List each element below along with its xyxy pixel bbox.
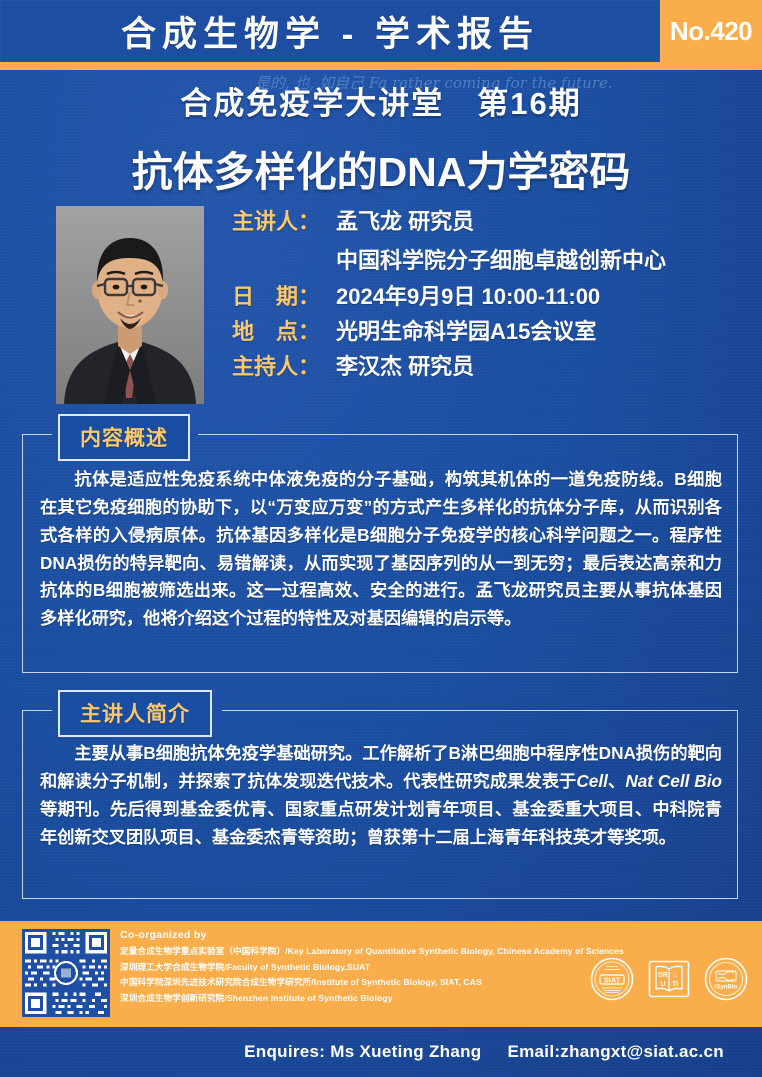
- svg-text:⌂: ⌂: [673, 972, 677, 979]
- svg-text:U: U: [660, 981, 665, 988]
- bio-text: 主要从事B细胞抗体免疫学基础研究。工作解析了B淋巴细胞中程序性DNA损伤的靶向和…: [40, 740, 722, 851]
- event-info-block: 主讲人： 孟飞龙 研究员 中国科学院分子细胞卓越创新中心 日 期： 2024年9…: [232, 208, 752, 389]
- speaker-portrait-illustration: [56, 206, 204, 404]
- speaker-name: 孟飞龙 研究员: [336, 208, 474, 236]
- footer-bar: Co-organized by 定量合成生物学重点实验室（中国科学院）/Key …: [0, 921, 762, 1027]
- poster-root: 合成生物学 - 学术报告 No.420 是的, 也, 如自己 Fa rather…: [0, 0, 762, 1077]
- speaker-photo: [56, 206, 204, 404]
- venue-value: 光明生命科学园A15会议室: [336, 318, 596, 346]
- isynbio-seal-logo: iSynBio: [704, 957, 748, 1001]
- venue-label: 地 点：: [232, 318, 336, 346]
- speaker-affiliation: 中国科学院分子细胞卓越创新中心: [336, 243, 752, 275]
- enquiries-bar: Enquires: Ms Xueting Zhang Email:zhangxt…: [0, 1027, 762, 1077]
- journal-name-cell: Cell: [576, 771, 608, 791]
- organizer-item: 定量合成生物学重点实验室（中国科学院）/Key Laboratory of Qu…: [120, 945, 590, 957]
- bio-text-part3: 等期刊。先后得到基金委优青、国家重点研发计划青年项目、基金委重大项目、中科院青年…: [40, 799, 722, 847]
- bio-text-part2: 、: [608, 771, 625, 791]
- abstract-panel: 内容概述 抗体是适应性免疫系统中体液免疫的分子基础，构筑其机体的一道免疫防线。B…: [22, 434, 740, 674]
- qr-code[interactable]: [22, 929, 110, 1017]
- host-name: 李汉杰 研究员: [336, 353, 474, 381]
- organizer-block: Co-organized by 定量合成生物学重点实验室（中国科学院）/Key …: [120, 929, 590, 1007]
- lecture-main-title: 抗体多样化的DNA力学密码: [0, 138, 762, 198]
- qr-code-image: [22, 929, 110, 1017]
- series-title: 合成生物学 - 学术报告: [0, 0, 660, 62]
- bio-panel: 主讲人简介 主要从事B细胞抗体免疫学基础研究。工作解析了B淋巴细胞中程序性DNA…: [22, 710, 740, 900]
- date-label: 日 期：: [232, 283, 336, 311]
- footer-logos: SIAT SR ⌂ U Ti iSynBio: [590, 957, 748, 1001]
- co-organized-heading: Co-organized by: [120, 929, 590, 941]
- lecture-series-subtitle: 合成免疫学大讲堂 第16期: [0, 78, 762, 123]
- host-label: 主持人：: [232, 353, 336, 381]
- journal-name-nat-cell-bio: Nat Cell Bio: [625, 771, 722, 791]
- siat-seal-logo: SIAT: [590, 957, 634, 1001]
- speaker-label: 主讲人：: [232, 208, 336, 236]
- organizer-item: 深圳合成生物学创新研究院/Shenzhen Institute of Synth…: [120, 992, 590, 1004]
- header-gold-divider: [0, 62, 762, 70]
- svg-text:Ti: Ti: [672, 981, 678, 988]
- enquiries-contact: Enquires: Ms Xueting Zhang: [244, 1042, 481, 1062]
- abstract-text: 抗体是适应性免疫系统中体液免疫的分子基础，构筑其机体的一道免疫防线。B细胞在其它…: [40, 466, 722, 633]
- svg-text:iSynBio: iSynBio: [714, 984, 737, 991]
- svg-text:SR: SR: [658, 972, 668, 979]
- abstract-tag: 内容概述: [58, 414, 190, 461]
- info-row-host: 主持人： 李汉杰 研究员: [232, 353, 752, 381]
- suat-book-logo: SR ⌂ U Ti: [647, 957, 691, 1001]
- svg-text:SIAT: SIAT: [604, 975, 621, 984]
- organizer-item: 深圳理工大学合成生物学院/Faculty of Synthetic Biolog…: [120, 961, 590, 973]
- bio-tag: 主讲人简介: [58, 690, 212, 737]
- info-row-venue: 地 点： 光明生命科学园A15会议室: [232, 318, 752, 346]
- poster-header: 合成生物学 - 学术报告 No.420: [0, 0, 762, 62]
- issue-badge: No.420: [660, 0, 762, 62]
- info-row-date: 日 期： 2024年9月9日 10:00-11:00: [232, 283, 752, 311]
- enquiries-email[interactable]: Email:zhangxt@siat.ac.cn: [507, 1042, 724, 1062]
- organizer-item: 中国科学院深圳先进技术研究院合成生物学研究所/Institute of Synt…: [120, 976, 590, 988]
- date-value: 2024年9月9日 10:00-11:00: [336, 283, 600, 311]
- info-row-speaker: 主讲人： 孟飞龙 研究员: [232, 208, 752, 236]
